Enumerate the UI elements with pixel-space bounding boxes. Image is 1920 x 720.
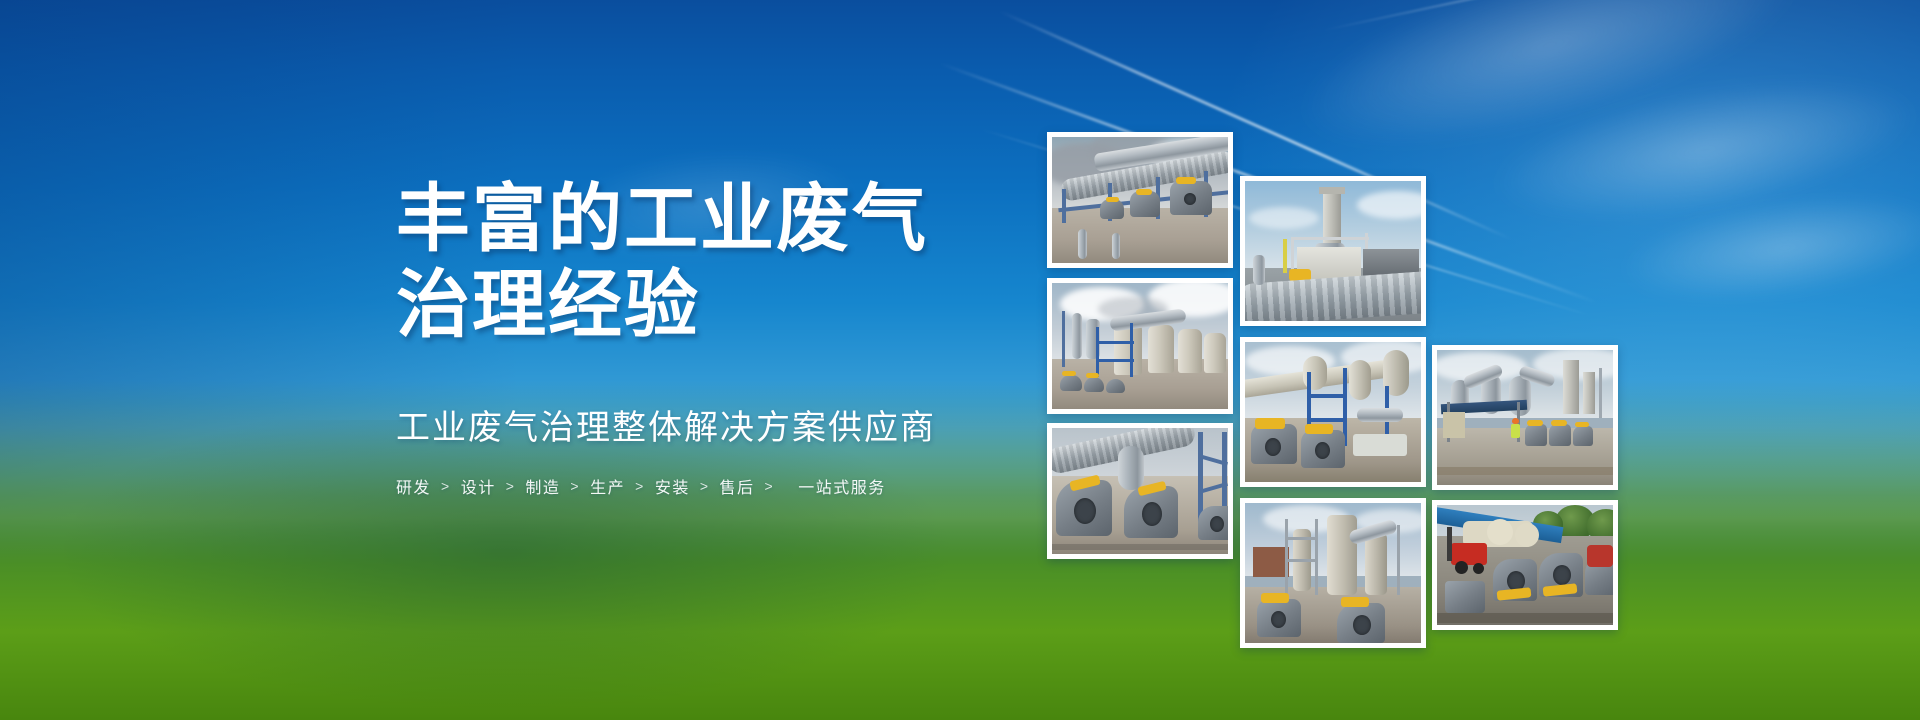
- photo-fan-yard-forklift[interactable]: [1432, 500, 1618, 630]
- photo-scrubber-tower-array[interactable]: [1047, 278, 1233, 414]
- photo-centrifugal-fan-row[interactable]: [1047, 423, 1233, 559]
- photo-duct-manifold-plant[interactable]: [1240, 337, 1426, 487]
- hero-banner: 丰富的工业废气 治理经验 工业废气治理整体解决方案供应商 研发 > 设计 > 制…: [0, 0, 1920, 720]
- photo-treatment-line-worker[interactable]: [1432, 345, 1618, 490]
- project-photo-collage: [0, 0, 1920, 720]
- photo-rto-unit-large-duct[interactable]: [1240, 176, 1426, 326]
- photo-scrubber-plant-site[interactable]: [1240, 498, 1426, 648]
- photo-rto-pipeline-rack[interactable]: [1047, 132, 1233, 268]
